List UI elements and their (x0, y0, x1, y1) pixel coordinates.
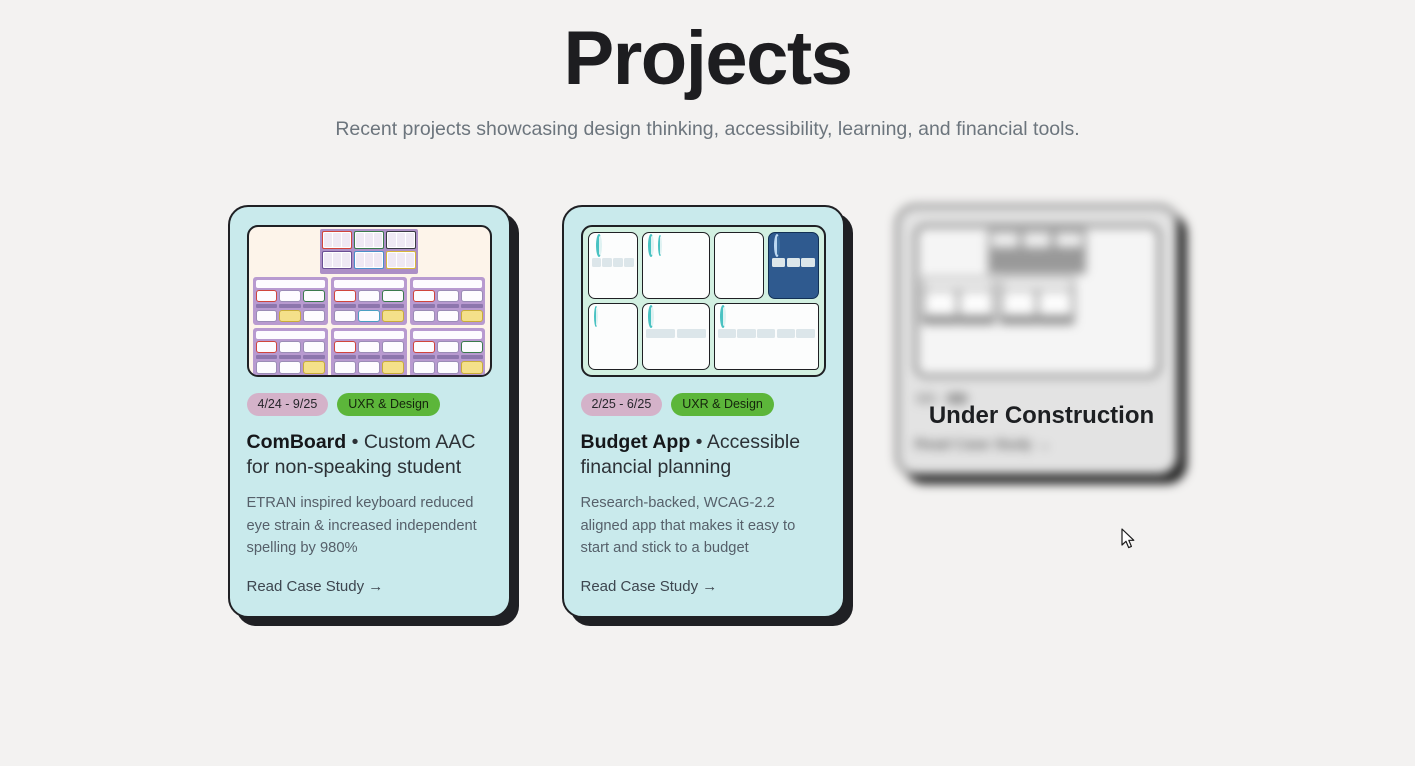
project-badges (915, 393, 1160, 404)
category-badge: UXR & Design (337, 393, 440, 417)
read-case-study-link[interactable]: Read Case Study → (581, 578, 718, 595)
placeholder-tile (1054, 231, 1084, 249)
project-title: Budget App • Accessible financial planni… (581, 430, 826, 480)
page-subtitle: Recent projects showcasing design thinki… (328, 115, 1088, 145)
project-title-separator: • (346, 431, 364, 453)
project-thumbnail-comboard (247, 225, 492, 377)
project-badges: 2/25 - 6/25 UXR & Design (581, 393, 826, 417)
date-badge: 4/24 - 9/25 (247, 393, 329, 417)
category-badge: UXR & Design (671, 393, 774, 417)
placeholder-tile (990, 231, 1020, 249)
project-thumbnail-under-construction (915, 225, 1160, 377)
project-card-slot-comboard: 4/24 - 9/25 UXR & Design ComBoard • Cust… (228, 205, 520, 618)
aac-mini-tile (322, 231, 352, 249)
phone-mockup (642, 232, 710, 299)
phone-mockup (714, 232, 764, 299)
project-description: Research-backed, WCAG-2.2 aligned app th… (581, 492, 826, 559)
aac-panel (253, 277, 329, 326)
placeholder-panel-grid-icon (921, 277, 1154, 377)
aac-mini-tile (354, 251, 384, 269)
aac-top-panel-icon (320, 229, 418, 274)
placeholder-panel (999, 277, 1075, 326)
project-title-separator: • (690, 431, 707, 453)
project-thumbnail-budget-app (581, 225, 826, 377)
page-header: Projects Recent projects showcasing desi… (0, 0, 1415, 145)
projects-grid: 4/24 - 9/25 UXR & Design ComBoard • Cust… (0, 205, 1415, 618)
placeholder-tile (1022, 231, 1052, 249)
aac-mini-tile (386, 231, 416, 249)
project-card-slot-under-construction: Read Case Study → Under Construction (896, 205, 1188, 476)
category-badge (946, 393, 968, 404)
project-description: ETRAN inspired keyboard reduced eye stra… (247, 492, 492, 559)
project-card-slot-budget-app: 2/25 - 6/25 UXR & Design Budget App • Ac… (562, 205, 854, 618)
phone-mockup-dark (768, 232, 818, 299)
phone-mockup (642, 303, 710, 370)
desktop-mockup (714, 303, 819, 370)
project-title: ComBoard • Custom AAC for non-speaking s… (247, 430, 492, 480)
aac-panel (331, 277, 407, 326)
aac-panel (410, 277, 486, 326)
page-title: Projects (0, 16, 1415, 101)
date-badge: 2/25 - 6/25 (581, 393, 663, 417)
aac-panel (253, 328, 329, 377)
aac-panel (331, 328, 407, 377)
project-title-bold: Budget App (581, 431, 691, 453)
phone-mockup (588, 232, 638, 299)
phone-mockups-icon (588, 232, 819, 370)
aac-mini-tile (386, 251, 416, 269)
placeholder-top-panel-icon (988, 229, 1086, 274)
aac-panel-grid-icon (253, 277, 486, 377)
placeholder-panel (921, 277, 997, 326)
project-title-bold: ComBoard (247, 431, 347, 453)
project-card-budget-app[interactable]: 2/25 - 6/25 UXR & Design Budget App • Ac… (562, 205, 845, 618)
project-card-comboard[interactable]: 4/24 - 9/25 UXR & Design ComBoard • Cust… (228, 205, 511, 618)
date-badge (915, 393, 937, 404)
project-card-under-construction[interactable]: Read Case Study → (896, 205, 1179, 476)
aac-panel (410, 328, 486, 377)
aac-mini-tile (354, 231, 384, 249)
read-case-study-link[interactable]: Read Case Study → (247, 578, 384, 595)
phone-mockup (588, 303, 638, 370)
project-badges: 4/24 - 9/25 UXR & Design (247, 393, 492, 417)
read-case-study-link[interactable]: Read Case Study → (915, 436, 1052, 453)
aac-mini-tile (322, 251, 352, 269)
